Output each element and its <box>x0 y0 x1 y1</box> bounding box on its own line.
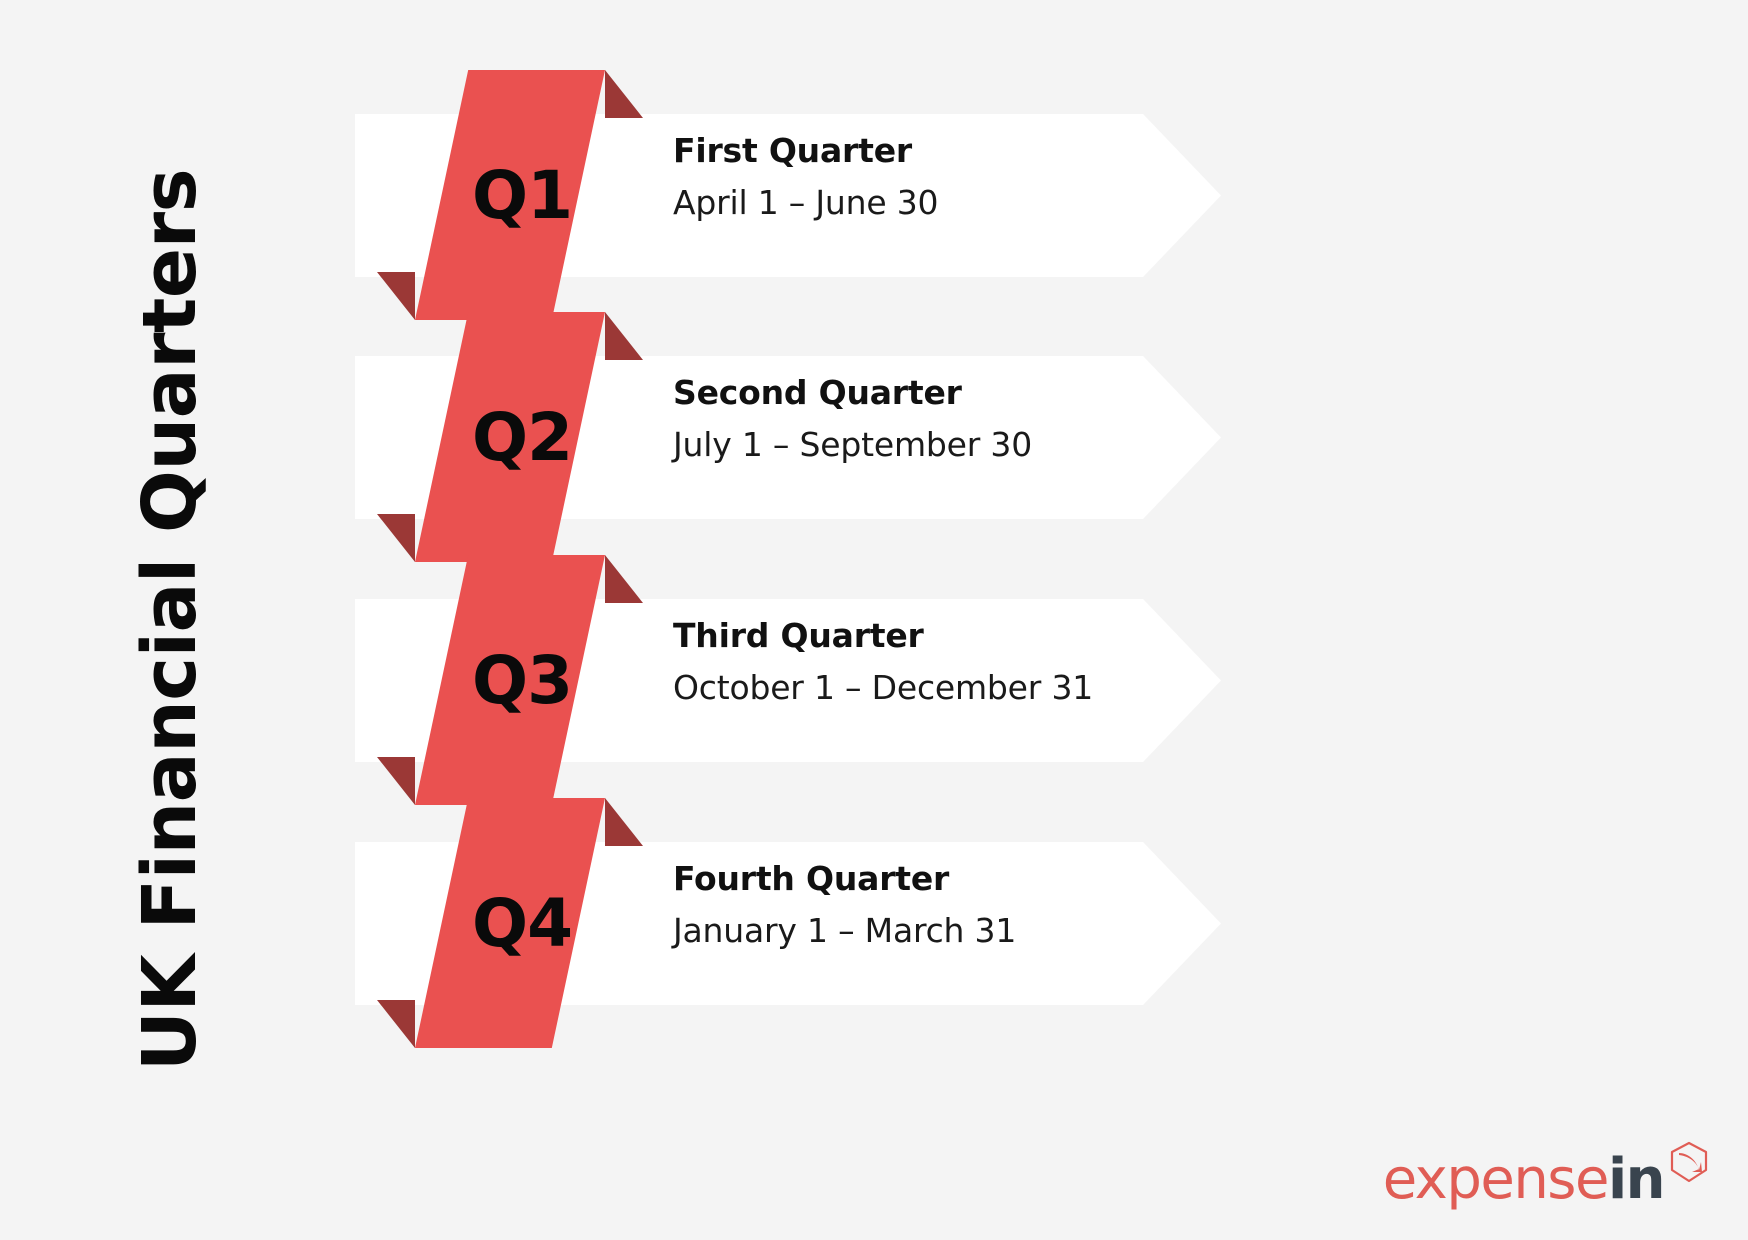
page-title-prefix: UK <box>127 929 213 1071</box>
quarter-text: Fourth Quarter January 1 – March 31 <box>673 858 1233 955</box>
arrow-badge-icon <box>1666 1140 1712 1186</box>
quarter-row[interactable]: Q2 Second Quarter July 1 – September 30 <box>355 312 1595 562</box>
expensein-logo[interactable]: expensein <box>1383 1138 1712 1208</box>
quarter-badge-label: Q2 <box>415 312 605 562</box>
logo-wordmark: expensein <box>1383 1152 1664 1208</box>
quarter-dates: October 1 – December 31 <box>673 664 1233 712</box>
banner-fold-top-icon <box>605 555 643 603</box>
quarter-text: Third Quarter October 1 – December 31 <box>673 615 1233 712</box>
quarter-name: Third Quarter <box>673 615 1233 658</box>
banner-fold-bottom-icon <box>377 1000 415 1048</box>
quarter-name: Fourth Quarter <box>673 858 1233 901</box>
quarter-badge-label: Q3 <box>415 555 605 805</box>
quarter-name: Second Quarter <box>673 372 1233 415</box>
quarter-text: First Quarter April 1 – June 30 <box>673 130 1233 227</box>
quarter-dates: July 1 – September 30 <box>673 421 1233 469</box>
logo-expense-text: expense <box>1383 1147 1608 1212</box>
quarter-dates: January 1 – March 31 <box>673 907 1233 955</box>
banner-fold-top-icon <box>605 312 643 360</box>
title-panel: UK Financial Quarters <box>0 0 340 1240</box>
quarter-row[interactable]: Q4 Fourth Quarter January 1 – March 31 <box>355 798 1595 1048</box>
banner-fold-top-icon <box>605 798 643 846</box>
logo-in-text: in <box>1608 1147 1664 1212</box>
quarters-list: Q1 First Quarter April 1 – June 30 Q2 Se… <box>355 0 1595 1240</box>
quarter-name: First Quarter <box>673 130 1233 173</box>
quarter-dates: April 1 – June 30 <box>673 179 1233 227</box>
page-title-main: Financial Quarters <box>127 169 213 930</box>
quarter-badge-label: Q4 <box>415 798 605 1048</box>
page-title: UK Financial Quarters <box>127 169 213 1071</box>
banner-fold-top-icon <box>605 70 643 118</box>
quarter-text: Second Quarter July 1 – September 30 <box>673 372 1233 469</box>
quarter-row[interactable]: Q1 First Quarter April 1 – June 30 <box>355 70 1595 320</box>
quarter-row[interactable]: Q3 Third Quarter October 1 – December 31 <box>355 555 1595 805</box>
quarter-badge-label: Q1 <box>415 70 605 320</box>
